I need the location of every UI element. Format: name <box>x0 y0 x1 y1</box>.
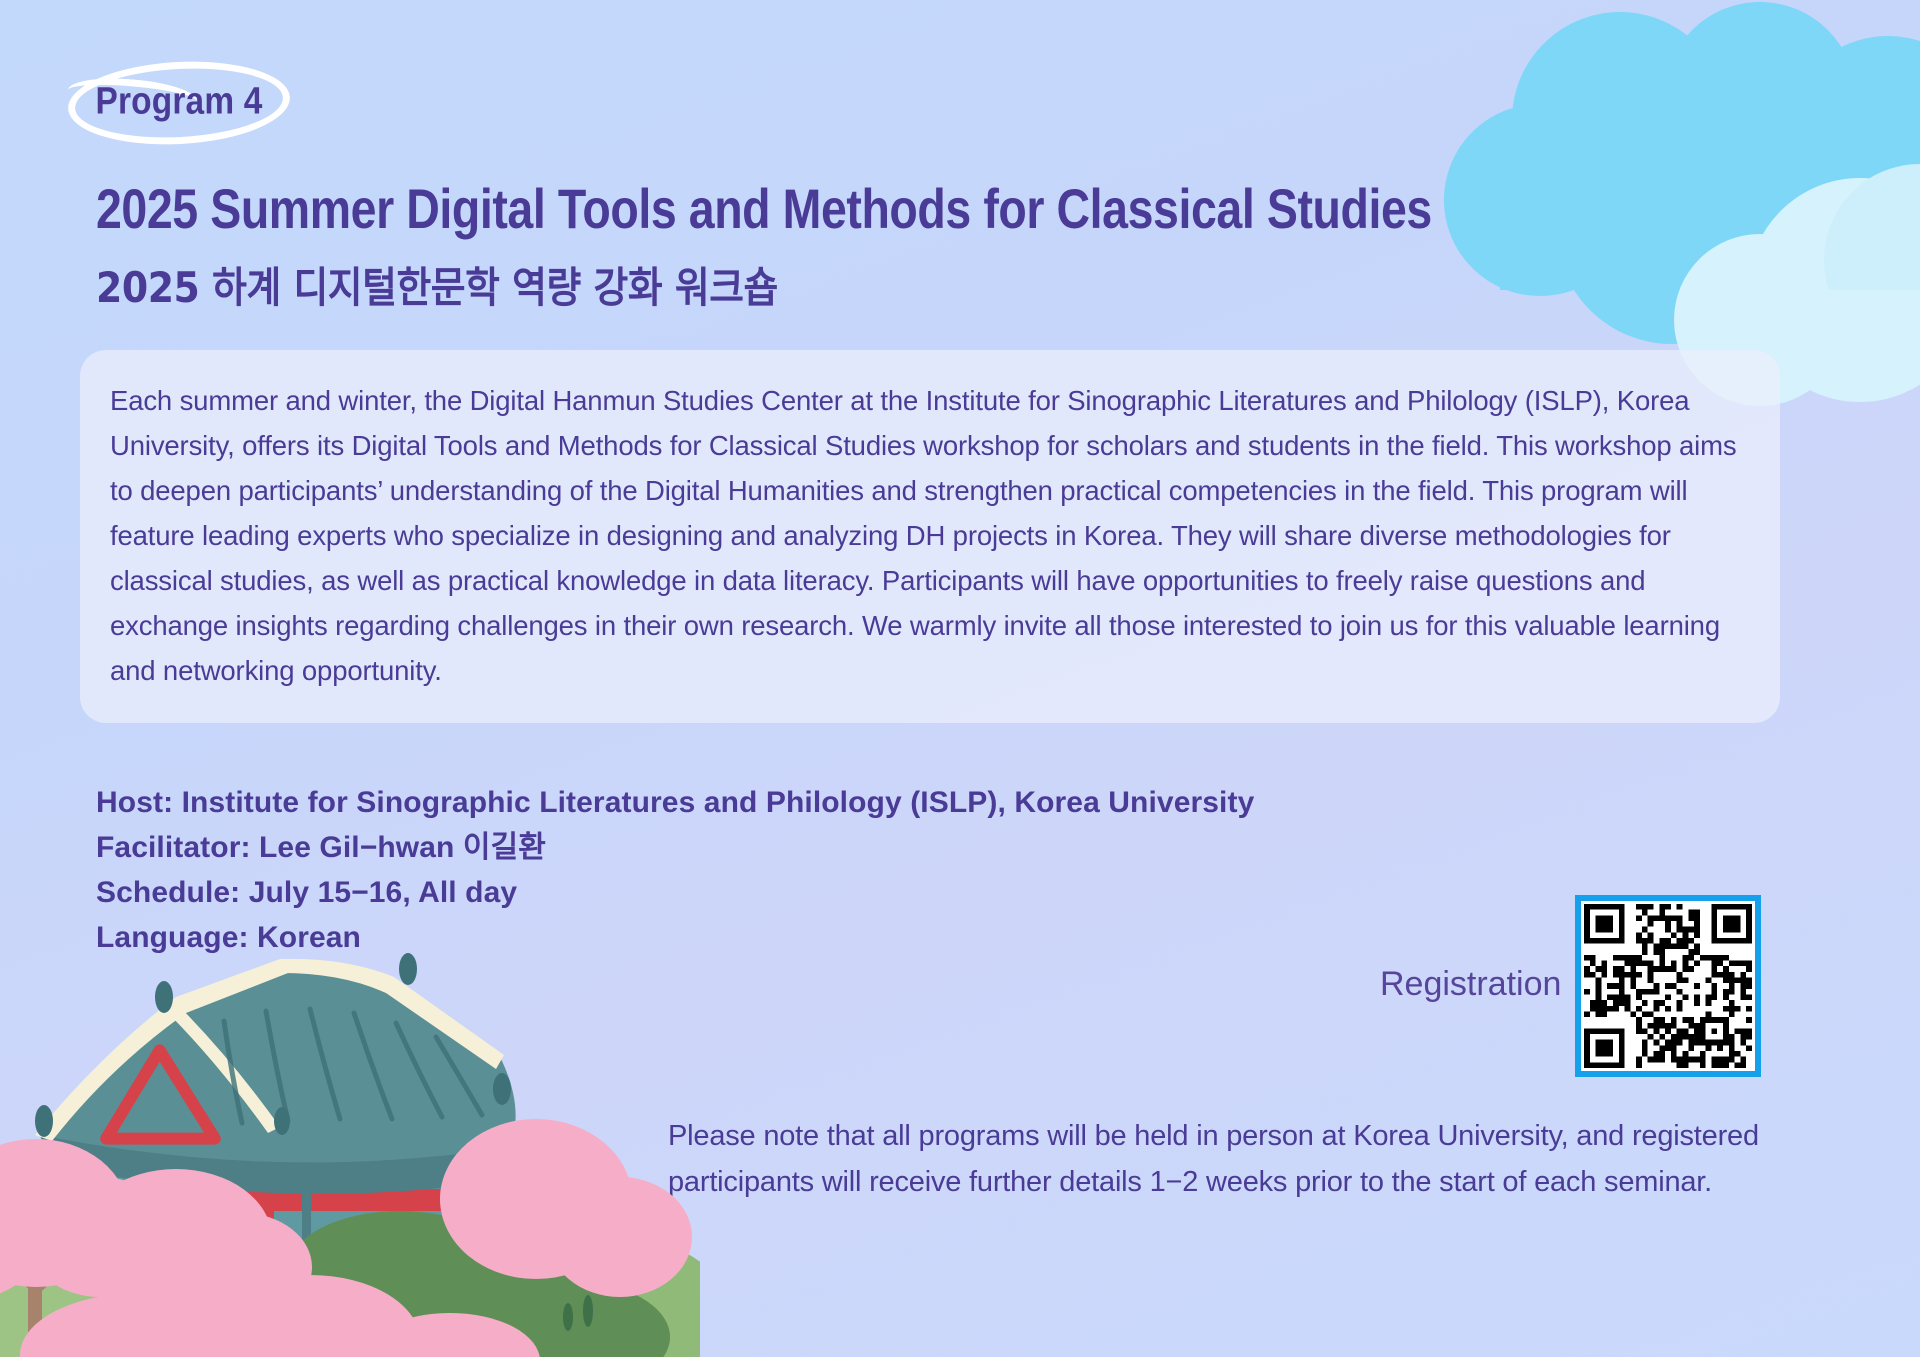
event-details: Host: Institute for Sinographic Literatu… <box>96 780 1254 960</box>
detail-language: Language: Korean <box>96 915 1254 960</box>
page-title-korean: 2025 하계 디지털한문학 역량 강화 워크숍 <box>96 254 778 315</box>
registration-label: Registration <box>1380 965 1561 1008</box>
detail-host: Host: Institute for Sinographic Literatu… <box>96 780 1254 825</box>
footer-note: Please note that all programs will be he… <box>668 1113 1868 1205</box>
description-paragraph: Each summer and winter, the Digital Hanm… <box>110 378 1750 693</box>
qr-code-icon[interactable] <box>1575 895 1761 1077</box>
hill-shape <box>30 1187 700 1357</box>
registration-block[interactable]: Registration <box>1380 895 1761 1077</box>
program-badge-label: Program 4 <box>81 81 276 124</box>
cherry-blossom-trees <box>0 1119 692 1357</box>
program-badge: Program 4 <box>68 62 290 144</box>
description-panel: Each summer and winter, the Digital Hanm… <box>80 350 1780 723</box>
korean-hanok-pavilion-illustration <box>0 937 700 1357</box>
detail-facilitator: Facilitator: Lee Gil−hwan 이길환 <box>96 825 1254 870</box>
hanok-pavilion <box>35 953 516 1261</box>
qr-code-canvas <box>1584 904 1752 1068</box>
detail-schedule: Schedule: July 15−16, All day <box>96 870 1254 915</box>
page-title-english: 2025 Summer Digital Tools and Methods fo… <box>96 176 1432 241</box>
